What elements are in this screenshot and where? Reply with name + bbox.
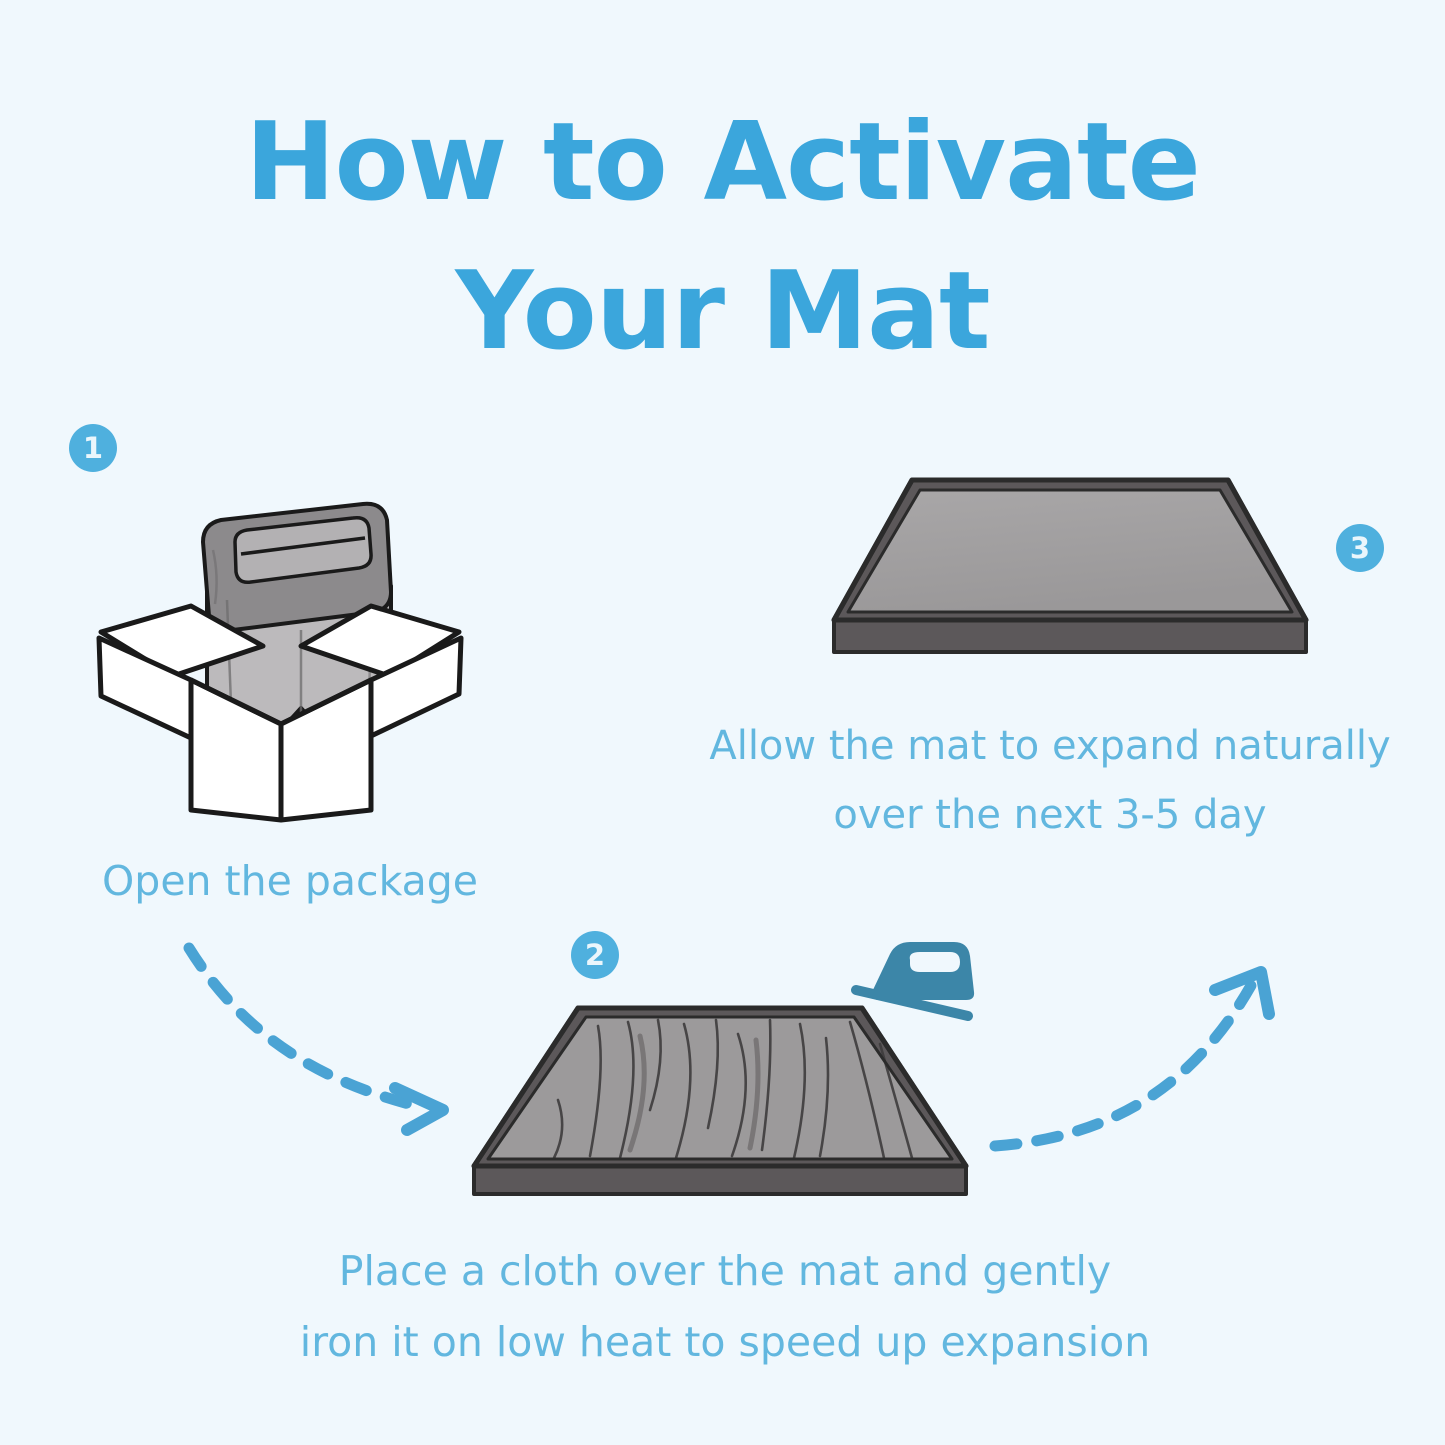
dashed-curved-arrow-down-right-icon <box>175 930 485 1140</box>
step-3-caption: Allow the mat to expand naturally over t… <box>665 712 1435 850</box>
step-3-illustration <box>830 470 1310 670</box>
infographic-canvas: How to Activate Your Mat 1 <box>0 0 1445 1445</box>
page-title: How to Activate Your Mat <box>0 88 1445 386</box>
step-2-badge: 2 <box>571 931 619 979</box>
step-1-illustration <box>95 480 465 820</box>
step-1-caption: Open the package <box>30 846 550 917</box>
step-2-illustration <box>470 990 970 1220</box>
step-2-caption: Place a cloth over the mat and gently ir… <box>245 1236 1205 1377</box>
step-1-badge: 1 <box>69 424 117 472</box>
dashed-curved-arrow-up-right-icon <box>985 960 1280 1160</box>
step-3-badge: 3 <box>1336 524 1384 572</box>
